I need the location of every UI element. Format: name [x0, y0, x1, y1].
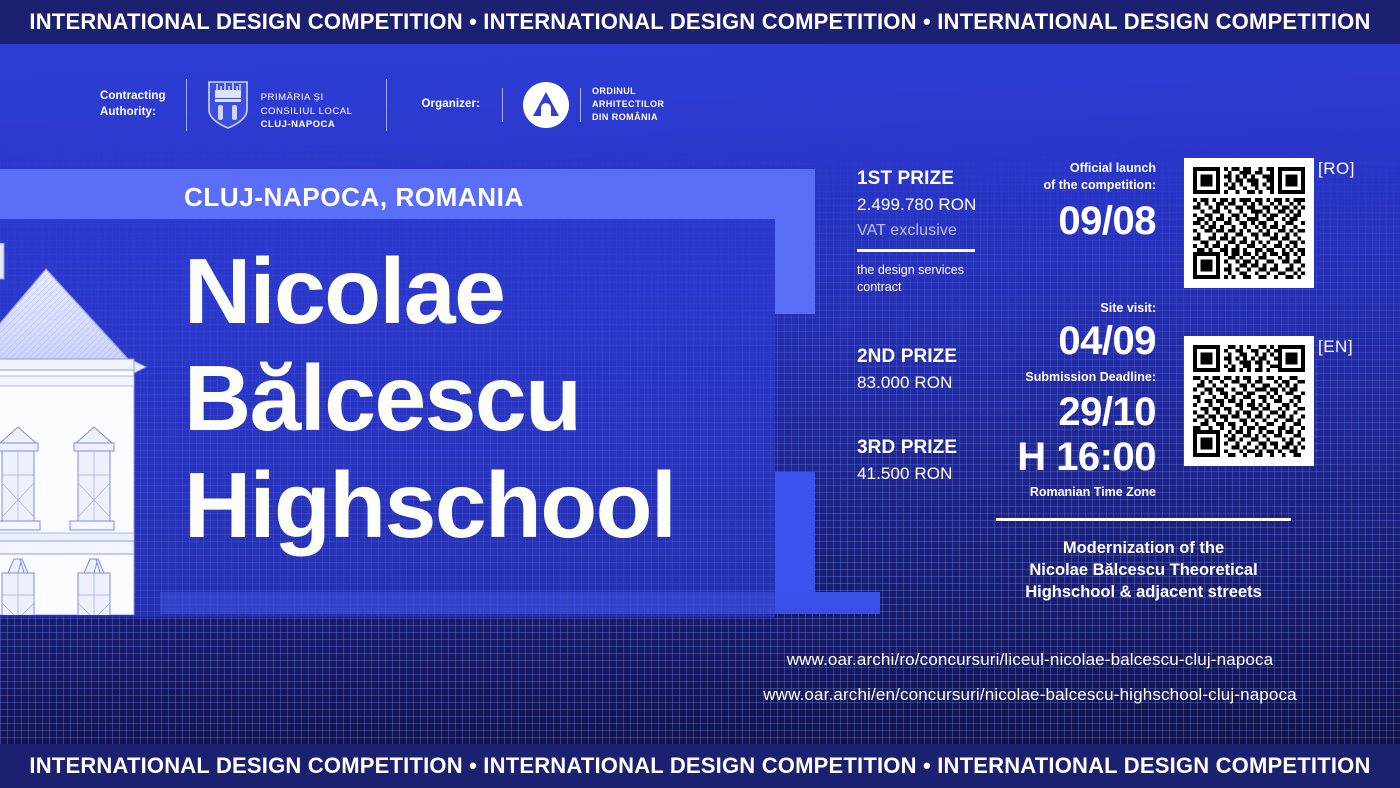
cluj-napoca-logo: PRIMĂRIA ȘI CONSILIUL LOCAL CLUJ-NAPOCA: [207, 78, 353, 132]
qr-code-ro[interactable]: [RO]: [1184, 158, 1314, 288]
building-elevation-illustration: [0, 243, 188, 620]
divider-2: [386, 79, 387, 131]
credits-row: Contracting Authority: PRIMĂRIA ȘI CONSI…: [100, 78, 664, 132]
qr-en-glyph: [1193, 345, 1305, 457]
qr-code-en-label: [EN]: [1318, 337, 1353, 357]
deadline-label: Submission Deadline:: [996, 369, 1156, 386]
launch-date: 09/08: [996, 199, 1156, 243]
organizer-label: Organizer:: [421, 97, 480, 113]
lower-bracket-foot: [775, 592, 880, 614]
page-title: Nicolae Bălcescu Highschool: [184, 238, 784, 559]
site-visit-label: Site visit:: [996, 300, 1156, 317]
lower-bracket-shade: [160, 592, 776, 614]
prize-first: 1ST PRIZE 2.499.780 RON VAT exclusive th…: [857, 168, 992, 296]
timezone-note: Romanian Time Zone: [996, 484, 1156, 501]
title-line-2: Bălcescu: [184, 345, 784, 452]
qr-code-ro-image[interactable]: [1184, 158, 1314, 288]
oar-logo: ORDINUL ARHITECTILOR DIN ROMÂNIA: [523, 82, 664, 128]
project-description: Modernization of the Nicolae Bălcescu Th…: [996, 538, 1291, 603]
cluj-napoca-crest-icon: [207, 79, 249, 131]
qr-code-en[interactable]: [EN]: [1184, 336, 1314, 466]
launch-label: Official launch of the competition:: [996, 160, 1156, 194]
authority-name: PRIMĂRIA ȘI CONSILIUL LOCAL: [261, 92, 353, 116]
authority-city: CLUJ-NAPOCA: [261, 119, 336, 130]
qr-code-ro-label: [RO]: [1318, 159, 1355, 179]
location-label: CLUJ-NAPOCA, ROMANIA: [184, 182, 524, 213]
cluj-napoca-logo-text: PRIMĂRIA ȘI CONSILIUL LOCAL CLUJ-NAPOCA: [261, 78, 353, 132]
prize-third-amount: 41.500 RON: [857, 464, 992, 484]
divider-3: [502, 88, 503, 122]
contracting-authority-label: Contracting Authority:: [100, 89, 166, 120]
prize-second: 2ND PRIZE 83.000 RON: [857, 346, 992, 393]
prize-second-amount: 83.000 RON: [857, 373, 992, 393]
top-marquee-text: INTERNATIONAL DESIGN COMPETITION • INTER…: [29, 11, 1370, 33]
oar-arch-logo-icon: [523, 82, 569, 128]
qr-code-en-image[interactable]: [1184, 336, 1314, 466]
divider-4: [580, 88, 581, 122]
urls-block: www.oar.archi/ro/concursuri/liceul-nicol…: [700, 650, 1360, 720]
bottom-marquee-text: INTERNATIONAL DESIGN COMPETITION • INTER…: [29, 755, 1370, 777]
divider-1: [186, 79, 187, 131]
site-visit-date: 04/09: [996, 319, 1156, 363]
title-line-3: Highschool: [184, 452, 784, 559]
bottom-marquee-band: INTERNATIONAL DESIGN COMPETITION • INTER…: [0, 744, 1400, 788]
prize-third: 3RD PRIZE 41.500 RON: [857, 437, 992, 484]
prize-second-title: 2ND PRIZE: [857, 346, 992, 368]
dates-column: Official launch of the competition: 09/0…: [996, 160, 1156, 604]
qr-ro-glyph: [1193, 167, 1305, 279]
url-en[interactable]: www.oar.archi/en/concursuri/nicolae-balc…: [700, 685, 1360, 705]
deadline-time: H 16:00: [996, 435, 1156, 479]
project-divider: [996, 518, 1291, 521]
poster-root: INTERNATIONAL DESIGN COMPETITION • INTER…: [0, 0, 1400, 788]
prize-first-note: VAT exclusive: [857, 222, 992, 240]
top-marquee-band: INTERNATIONAL DESIGN COMPETITION • INTER…: [0, 0, 1400, 44]
prize-third-title: 3RD PRIZE: [857, 437, 992, 459]
prize-first-title: 1ST PRIZE: [857, 168, 992, 190]
prizes-column: 1ST PRIZE 2.499.780 RON VAT exclusive th…: [857, 168, 992, 488]
deadline-date: 29/10: [996, 390, 1156, 434]
oar-logo-text: ORDINUL ARHITECTILOR DIN ROMÂNIA: [592, 85, 664, 124]
prize-first-sub: the design services contract: [857, 262, 992, 296]
prize-first-amount: 2.499.780 RON: [857, 195, 992, 215]
prize-divider: [857, 249, 975, 252]
url-ro[interactable]: www.oar.archi/ro/concursuri/liceul-nicol…: [700, 650, 1360, 670]
title-line-1: Nicolae: [184, 238, 784, 345]
